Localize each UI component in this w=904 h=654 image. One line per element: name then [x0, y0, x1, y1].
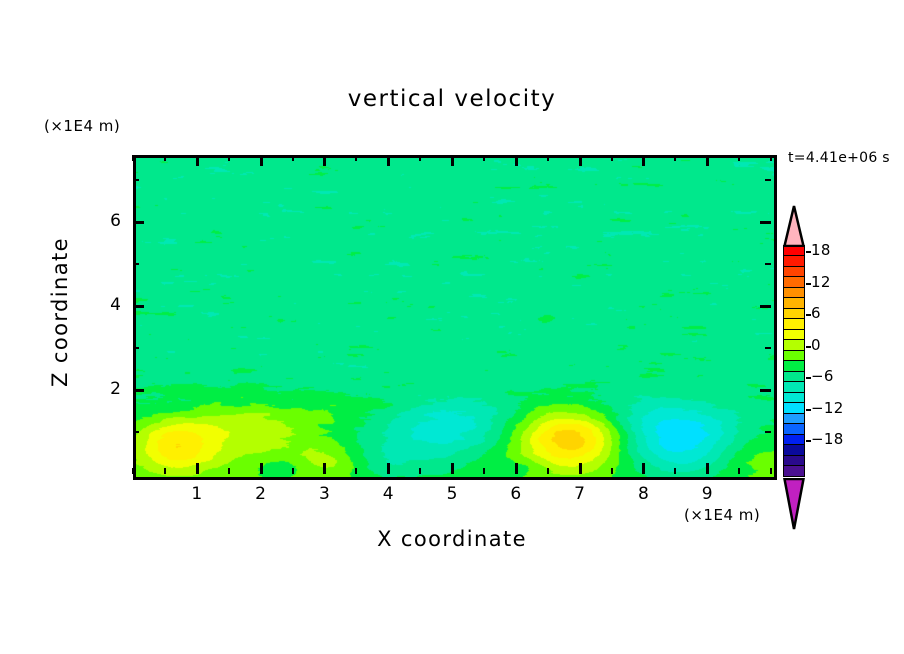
- x-tick-label: 2: [241, 484, 281, 504]
- x-tick-major-bottom: [515, 463, 518, 474]
- colorbar-cap-bottom: [783, 478, 805, 530]
- y-tick-minor-left: [133, 347, 139, 349]
- x-tick-minor-bottom: [611, 468, 613, 474]
- y-tick-minor-right: [765, 179, 771, 181]
- x-tick-label: 8: [623, 484, 663, 504]
- y-tick-major-left: [133, 389, 144, 392]
- x-tick-minor-top: [674, 155, 676, 161]
- x-tick-major-bottom: [387, 463, 390, 474]
- x-tick-minor-bottom: [132, 468, 134, 474]
- x-tick-minor-top: [770, 155, 772, 161]
- y-tick-label: 2: [81, 379, 121, 399]
- y-tick-minor-right: [765, 431, 771, 433]
- x-tick-label: 7: [560, 484, 600, 504]
- contour-plot-area: [133, 155, 777, 480]
- colorbar-label: 12: [811, 273, 831, 291]
- colorbar-band: [783, 465, 805, 477]
- x-tick-major-top: [706, 155, 709, 166]
- x-tick-major-bottom: [196, 463, 199, 474]
- y-axis-unit-label: (×1E4 m): [44, 117, 120, 135]
- x-tick-major-bottom: [260, 463, 263, 474]
- vertical-velocity-field: [136, 158, 774, 477]
- x-tick-minor-top: [547, 155, 549, 161]
- x-tick-major-bottom: [706, 463, 709, 474]
- x-tick-minor-bottom: [228, 468, 230, 474]
- colorbar: [783, 246, 805, 477]
- x-tick-minor-bottom: [419, 468, 421, 474]
- x-tick-major-bottom: [579, 463, 582, 474]
- x-tick-minor-bottom: [770, 468, 772, 474]
- y-tick-minor-right: [765, 263, 771, 265]
- x-axis-unit-label: (×1E4 m): [684, 506, 760, 524]
- x-tick-label: 6: [496, 484, 536, 504]
- x-tick-major-bottom: [642, 463, 645, 474]
- x-tick-major-top: [387, 155, 390, 166]
- x-tick-minor-bottom: [738, 468, 740, 474]
- y-tick-major-left: [133, 221, 144, 224]
- x-tick-major-bottom: [323, 463, 326, 474]
- colorbar-label: −6: [811, 367, 834, 385]
- y-tick-major-left: [133, 305, 144, 308]
- x-tick-minor-top: [419, 155, 421, 161]
- y-tick-label: 6: [81, 211, 121, 231]
- colorbar-label: −12: [811, 399, 844, 417]
- y-tick-minor-right: [765, 347, 771, 349]
- x-tick-minor-top: [483, 155, 485, 161]
- x-tick-major-top: [579, 155, 582, 166]
- x-tick-minor-top: [228, 155, 230, 161]
- y-axis-label: Z coordinate: [48, 192, 72, 432]
- x-tick-minor-bottom: [164, 468, 166, 474]
- x-tick-minor-top: [292, 155, 294, 161]
- colorbar-label: −18: [811, 430, 844, 448]
- y-tick-major-right: [760, 305, 771, 308]
- x-tick-major-top: [323, 155, 326, 166]
- y-tick-major-right: [760, 389, 771, 392]
- y-tick-label: 4: [81, 295, 121, 315]
- x-tick-minor-bottom: [674, 468, 676, 474]
- timestamp-annotation: t=4.41e+06 s: [788, 150, 890, 166]
- y-tick-minor-left: [133, 179, 139, 181]
- x-tick-label: 4: [368, 484, 408, 504]
- x-tick-major-top: [196, 155, 199, 166]
- x-tick-minor-bottom: [547, 468, 549, 474]
- colorbar-label: 6: [811, 304, 821, 322]
- x-tick-minor-top: [738, 155, 740, 161]
- x-tick-minor-top: [355, 155, 357, 161]
- x-tick-major-top: [515, 155, 518, 166]
- x-tick-minor-bottom: [292, 468, 294, 474]
- figure-canvas: vertical velocity (×1E4 m) t=4.41e+06 s …: [0, 0, 904, 654]
- x-tick-label: 5: [432, 484, 472, 504]
- x-tick-label: 9: [687, 484, 727, 504]
- y-tick-minor-left: [133, 263, 139, 265]
- x-tick-minor-bottom: [483, 468, 485, 474]
- x-tick-major-top: [642, 155, 645, 166]
- x-tick-minor-top: [164, 155, 166, 161]
- x-tick-minor-top: [132, 155, 134, 161]
- y-tick-major-right: [760, 221, 771, 224]
- colorbar-label: 0: [811, 336, 821, 354]
- x-tick-major-top: [260, 155, 263, 166]
- colorbar-cap-top: [783, 205, 805, 247]
- x-tick-minor-top: [611, 155, 613, 161]
- x-tick-label: 1: [177, 484, 217, 504]
- x-tick-major-bottom: [451, 463, 454, 474]
- y-tick-minor-left: [133, 431, 139, 433]
- x-tick-major-top: [451, 155, 454, 166]
- page-title: vertical velocity: [0, 86, 904, 112]
- colorbar-label: 18: [811, 241, 831, 259]
- x-axis-label: X coordinate: [0, 527, 904, 551]
- x-tick-minor-bottom: [355, 468, 357, 474]
- x-tick-label: 3: [304, 484, 344, 504]
